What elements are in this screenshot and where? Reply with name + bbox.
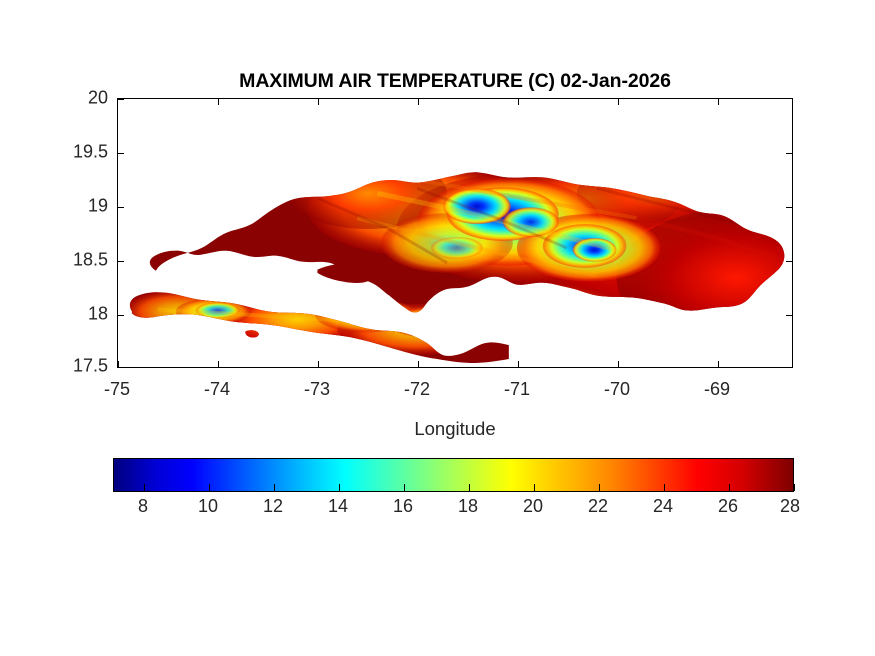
xtick-mark	[318, 99, 319, 105]
figure-canvas: MAXIMUM AIR TEMPERATURE (C) 02-Jan-2026	[0, 0, 875, 656]
xtick-label: -69	[704, 379, 730, 400]
x-axis-label: Longitude	[117, 418, 793, 440]
colorbar-tick-label: 22	[588, 496, 608, 517]
colorbar[interactable]	[113, 458, 794, 492]
colorbar-tick-label: 18	[458, 496, 478, 517]
colorbar-tick-label: 12	[263, 496, 283, 517]
colorbar-tick-label: 26	[718, 496, 738, 517]
xtick-mark	[518, 99, 519, 105]
ytick-mark	[118, 207, 124, 208]
colorbar-tick	[664, 484, 665, 491]
ytick-mark	[786, 315, 792, 316]
ytick-mark	[118, 99, 124, 100]
colorbar-tick	[794, 484, 795, 491]
ytick-mark	[118, 367, 124, 368]
colorbar-tick	[729, 484, 730, 491]
xtick-mark	[718, 361, 719, 367]
xtick-label: -73	[304, 379, 330, 400]
colorbar-tick-label: 24	[653, 496, 673, 517]
ytick-label: 17.5	[48, 356, 108, 377]
ytick-mark	[118, 315, 124, 316]
colorbar-tick-label: 8	[138, 496, 148, 517]
colorbar-tick-label: 20	[523, 496, 543, 517]
colorbar-tick-label: 16	[393, 496, 413, 517]
ytick-label: 18	[60, 304, 108, 325]
xtick-mark	[418, 99, 419, 105]
xtick-mark	[618, 99, 619, 105]
page-title: MAXIMUM AIR TEMPERATURE (C) 02-Jan-2026	[117, 70, 793, 93]
ytick-label: 18.5	[48, 250, 108, 271]
ytick-mark	[118, 153, 124, 154]
xtick-mark	[418, 361, 419, 367]
xtick-mark	[518, 361, 519, 367]
xtick-label: -70	[604, 379, 630, 400]
colorbar-tick-label: 14	[328, 496, 348, 517]
xtick-label: -74	[204, 379, 230, 400]
colorbar-tick	[209, 484, 210, 491]
colorbar-tick	[404, 484, 405, 491]
ytick-mark	[786, 261, 792, 262]
ytick-label: 20	[60, 88, 108, 109]
map-axes[interactable]	[117, 98, 793, 368]
colorbar-tick	[599, 484, 600, 491]
xtick-mark	[718, 99, 719, 105]
xtick-mark	[318, 361, 319, 367]
colorbar-tick	[534, 484, 535, 491]
ytick-mark	[118, 261, 124, 262]
ytick-mark	[786, 207, 792, 208]
xtick-label: -75	[104, 379, 130, 400]
xtick-mark	[118, 361, 119, 367]
colorbar-tick	[274, 484, 275, 491]
xtick-label: -71	[504, 379, 530, 400]
ytick-label: 19.5	[48, 142, 108, 163]
ytick-label: 19	[60, 196, 108, 217]
temperature-raster	[118, 99, 792, 367]
colorbar-tick	[469, 484, 470, 491]
xtick-mark	[618, 361, 619, 367]
colorbar-tick	[144, 484, 145, 491]
colorbar-tick-label: 10	[198, 496, 218, 517]
colorbar-tick	[339, 484, 340, 491]
xtick-mark	[218, 99, 219, 105]
xtick-label: -72	[404, 379, 430, 400]
ytick-mark	[786, 153, 792, 154]
xtick-mark	[218, 361, 219, 367]
colorbar-tick-label: 28	[780, 496, 800, 517]
